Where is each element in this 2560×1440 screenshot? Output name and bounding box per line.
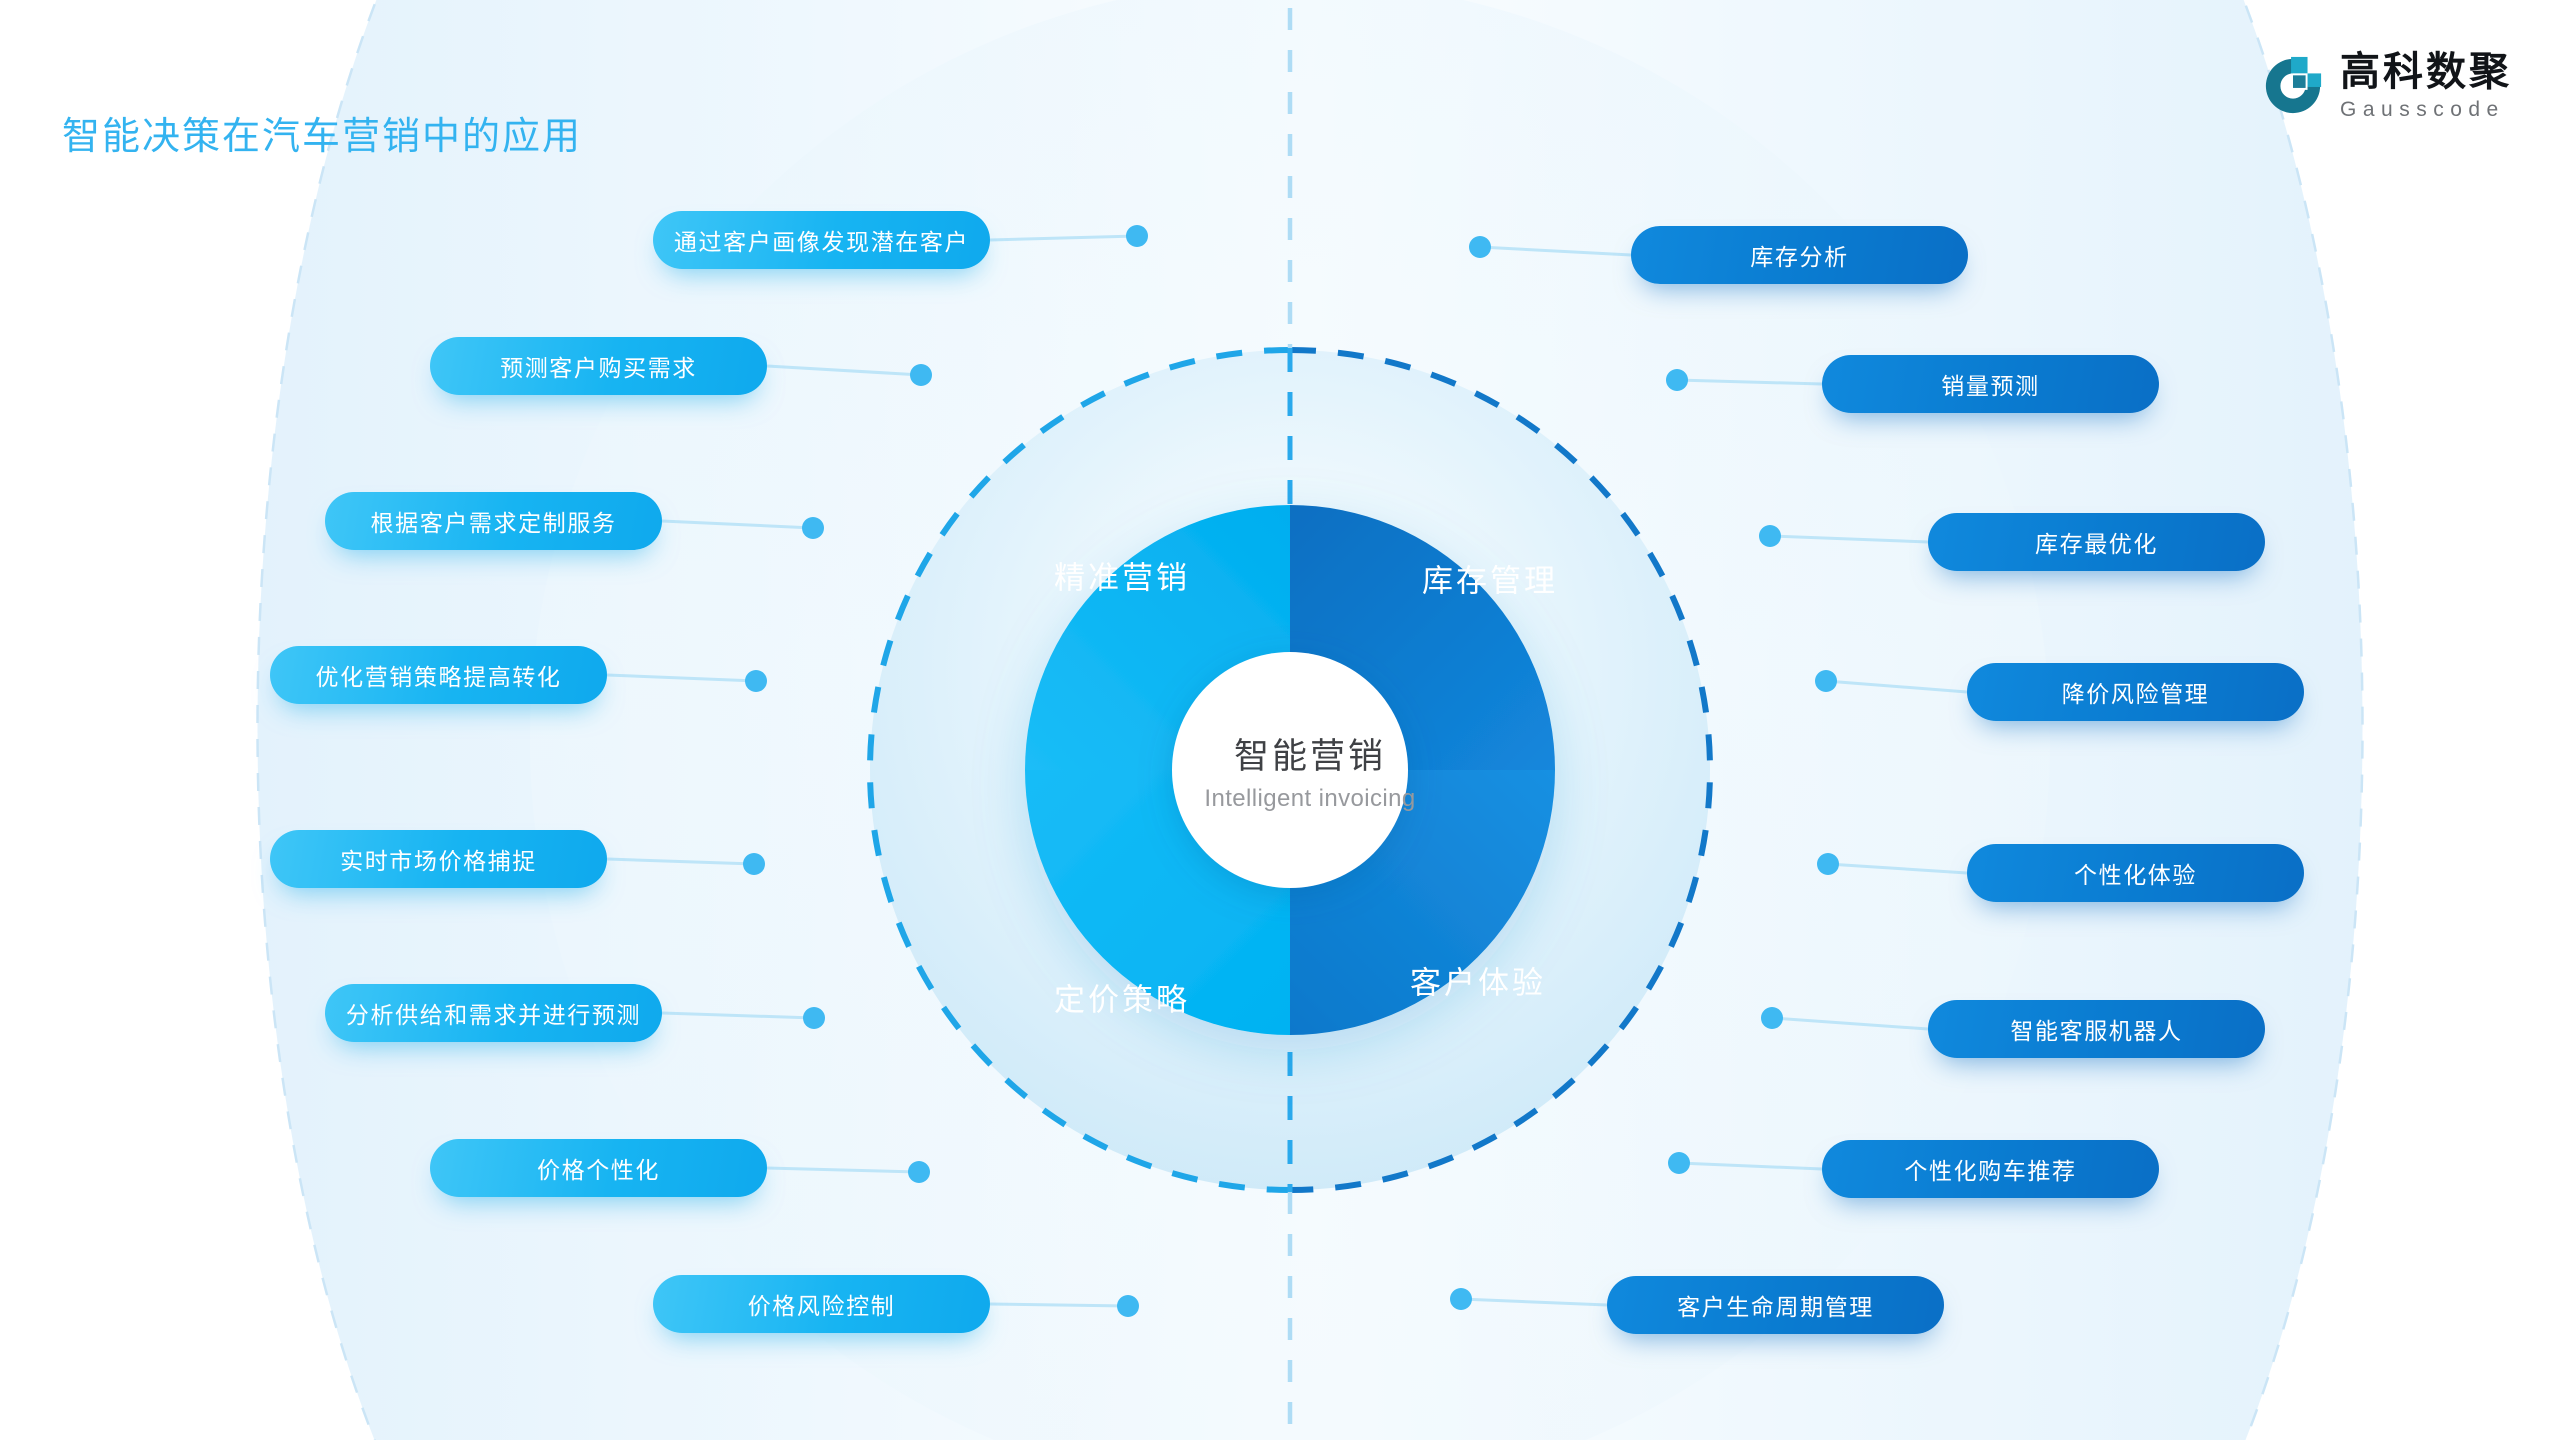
left-item-2[interactable]: 预测客户购买需求 bbox=[430, 337, 767, 395]
left-connector-3-dot bbox=[802, 517, 824, 539]
right-connector-8-line bbox=[1461, 1299, 1607, 1305]
left-connector-4-line bbox=[607, 675, 756, 681]
left-connector-6-line bbox=[662, 1013, 814, 1018]
left-connector-6-dot bbox=[803, 1007, 825, 1029]
left-item-label: 预测客户购买需求 bbox=[500, 349, 697, 383]
right-connector-1-dot bbox=[1469, 236, 1491, 258]
hub-title-en: Intelligent invoicing bbox=[1204, 785, 1415, 813]
left-item-label: 价格风险控制 bbox=[748, 1287, 896, 1321]
left-item-label: 优化营销策略提高转化 bbox=[316, 658, 562, 692]
right-item-label: 销量预测 bbox=[1941, 367, 2039, 401]
left-item-label: 通过客户画像发现潜在客户 bbox=[674, 223, 969, 257]
left-item-6[interactable]: 分析供给和需求并进行预测 bbox=[325, 984, 662, 1042]
quadrant-label-bottom-right: 客户体验 bbox=[1410, 958, 1546, 1003]
quadrant-label-bottom-left: 定价策略 bbox=[1054, 975, 1190, 1020]
right-connector-5-line bbox=[1828, 864, 1967, 873]
right-item-3[interactable]: 库存最优化 bbox=[1928, 513, 2265, 571]
right-item-8[interactable]: 客户生命周期管理 bbox=[1607, 1276, 1944, 1334]
right-connector-4-dot bbox=[1815, 670, 1837, 692]
left-connector-4-dot bbox=[745, 670, 767, 692]
right-item-2[interactable]: 销量预测 bbox=[1822, 355, 2159, 413]
left-item-label: 根据客户需求定制服务 bbox=[371, 504, 617, 538]
right-connector-4-line bbox=[1826, 681, 1967, 692]
right-item-label: 降价风险管理 bbox=[2062, 675, 2210, 709]
right-item-7[interactable]: 个性化购车推荐 bbox=[1822, 1140, 2159, 1198]
right-item-1[interactable]: 库存分析 bbox=[1631, 226, 1968, 284]
left-connector-5-line bbox=[607, 859, 754, 864]
right-connector-2-dot bbox=[1666, 369, 1688, 391]
left-connector-7-line bbox=[767, 1168, 919, 1172]
left-item-8[interactable]: 价格风险控制 bbox=[653, 1275, 990, 1333]
right-item-label: 个性化体验 bbox=[2074, 856, 2197, 890]
right-item-5[interactable]: 个性化体验 bbox=[1967, 844, 2304, 902]
left-item-label: 分析供给和需求并进行预测 bbox=[346, 996, 641, 1030]
left-item-1[interactable]: 通过客户画像发现潜在客户 bbox=[653, 211, 990, 269]
left-item-label: 价格个性化 bbox=[537, 1151, 660, 1185]
left-connector-2-dot bbox=[910, 364, 932, 386]
left-item-7[interactable]: 价格个性化 bbox=[430, 1139, 767, 1197]
right-connector-2-line bbox=[1677, 380, 1822, 384]
hub-label: 智能营销 Intelligent invoicing bbox=[1204, 737, 1415, 813]
left-connector-1-line bbox=[990, 236, 1137, 240]
right-item-label: 库存最优化 bbox=[2035, 525, 2158, 559]
left-connector-8-line bbox=[990, 1304, 1128, 1306]
left-connector-8-dot bbox=[1117, 1295, 1139, 1317]
right-item-label: 智能客服机器人 bbox=[2010, 1012, 2182, 1046]
infographic-canvas: 智能决策在汽车营销中的应用 高科数聚 Gausscode bbox=[0, 0, 2560, 1440]
left-connector-2-line bbox=[767, 366, 921, 375]
left-connector-3-line bbox=[662, 521, 813, 528]
left-item-3[interactable]: 根据客户需求定制服务 bbox=[325, 492, 662, 550]
right-item-label: 个性化购车推荐 bbox=[1904, 1152, 2076, 1186]
right-item-4[interactable]: 降价风险管理 bbox=[1967, 663, 2304, 721]
left-connector-1-dot bbox=[1126, 225, 1148, 247]
right-connector-3-dot bbox=[1759, 525, 1781, 547]
left-connector-5-dot bbox=[743, 853, 765, 875]
right-connector-3-line bbox=[1770, 536, 1928, 542]
left-item-5[interactable]: 实时市场价格捕捉 bbox=[270, 830, 607, 888]
right-connector-8-dot bbox=[1450, 1288, 1472, 1310]
right-connector-6-dot bbox=[1761, 1007, 1783, 1029]
right-connector-7-line bbox=[1679, 1163, 1822, 1169]
left-connector-7-dot bbox=[908, 1161, 930, 1183]
right-item-label: 库存分析 bbox=[1750, 238, 1848, 272]
quadrant-label-top-right: 库存管理 bbox=[1422, 556, 1558, 601]
right-connector-1-line bbox=[1480, 247, 1631, 255]
right-connector-7-dot bbox=[1668, 1152, 1690, 1174]
right-item-label: 客户生命周期管理 bbox=[1677, 1288, 1874, 1322]
left-item-4[interactable]: 优化营销策略提高转化 bbox=[270, 646, 607, 704]
right-connector-5-dot bbox=[1817, 853, 1839, 875]
left-item-label: 实时市场价格捕捉 bbox=[340, 842, 537, 876]
right-connector-6-line bbox=[1772, 1018, 1928, 1029]
right-item-6[interactable]: 智能客服机器人 bbox=[1928, 1000, 2265, 1058]
hub-title-cn: 智能营销 bbox=[1204, 737, 1415, 777]
quadrant-label-top-left: 精准营销 bbox=[1054, 553, 1190, 598]
